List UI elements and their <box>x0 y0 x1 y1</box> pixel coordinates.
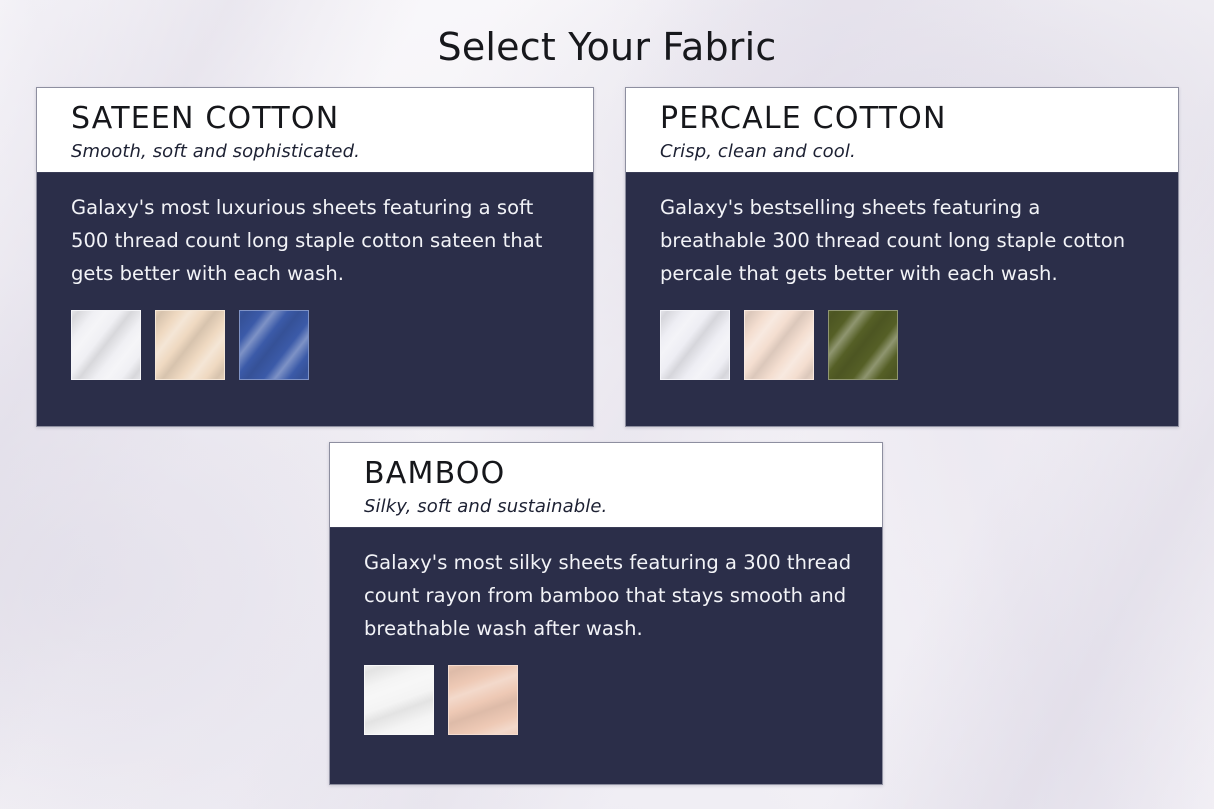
swatch-white[interactable] <box>660 310 730 380</box>
swatch-blush[interactable] <box>744 310 814 380</box>
card-header: BAMBOO Silky, soft and sustainable. <box>330 443 882 528</box>
swatch-blue[interactable] <box>239 310 309 380</box>
card-body: Galaxy's most luxurious sheets featuring… <box>37 173 593 380</box>
card-tagline: Silky, soft and sustainable. <box>364 496 882 517</box>
card-title: PERCALE COTTON <box>660 102 1178 137</box>
card-body: Galaxy's most silky sheets featuring a 3… <box>330 528 882 735</box>
page-title: Select Your Fabric <box>0 25 1214 69</box>
swatch-row <box>660 310 1148 380</box>
fabric-card-percale-cotton[interactable]: PERCALE COTTON Crisp, clean and cool. Ga… <box>625 87 1179 427</box>
card-title: SATEEN COTTON <box>71 102 593 137</box>
card-body: Galaxy's bestselling sheets featuring a … <box>626 173 1178 380</box>
swatch-beige[interactable] <box>155 310 225 380</box>
swatch-row <box>71 310 563 380</box>
swatch-white[interactable] <box>364 665 434 735</box>
fabric-card-bamboo[interactable]: BAMBOO Silky, soft and sustainable. Gala… <box>329 442 883 785</box>
card-description: Galaxy's most silky sheets featuring a 3… <box>364 546 852 645</box>
card-description: Galaxy's most luxurious sheets featuring… <box>71 191 563 290</box>
card-title: BAMBOO <box>364 457 882 492</box>
swatch-blush[interactable] <box>448 665 518 735</box>
card-tagline: Smooth, soft and sophisticated. <box>71 141 593 162</box>
swatch-olive[interactable] <box>828 310 898 380</box>
card-header: PERCALE COTTON Crisp, clean and cool. <box>626 88 1178 173</box>
fabric-card-sateen-cotton[interactable]: SATEEN COTTON Smooth, soft and sophistic… <box>36 87 594 427</box>
swatch-row <box>364 665 852 735</box>
card-tagline: Crisp, clean and cool. <box>660 141 1178 162</box>
card-header: SATEEN COTTON Smooth, soft and sophistic… <box>37 88 593 173</box>
card-description: Galaxy's bestselling sheets featuring a … <box>660 191 1148 290</box>
swatch-white[interactable] <box>71 310 141 380</box>
fabric-selector-page: Select Your Fabric SATEEN COTTON Smooth,… <box>0 0 1214 809</box>
